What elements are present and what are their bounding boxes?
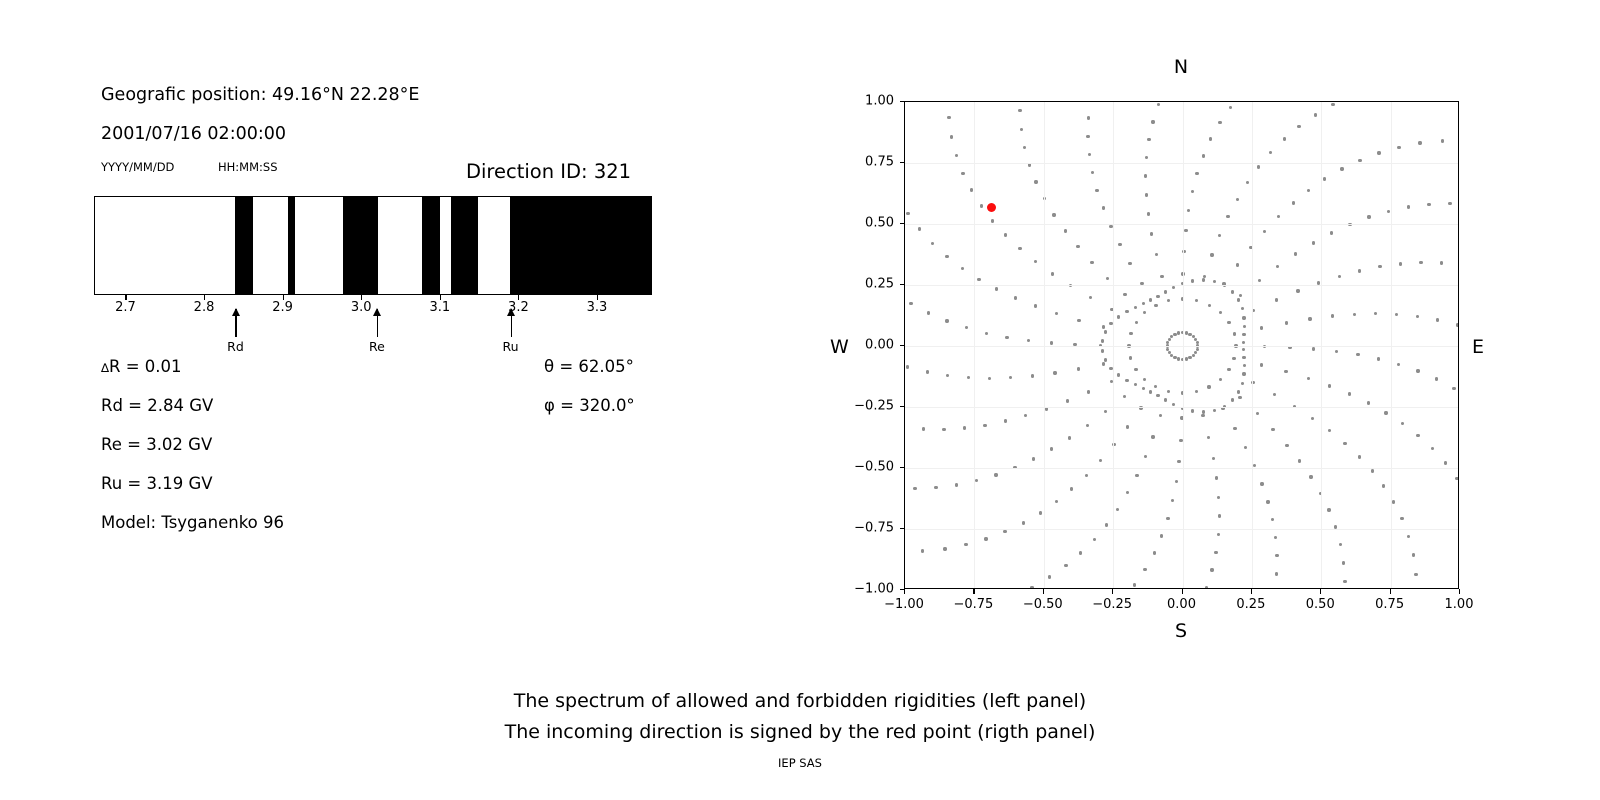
direction-map-panel: N S W E −1.00−0.75−0.50−0.250.000.250.50…: [820, 40, 1520, 660]
direction-point: [1431, 447, 1434, 450]
arrow-up-icon: [507, 308, 515, 316]
direction-point: [1275, 572, 1278, 575]
direction-point: [1285, 321, 1288, 324]
direction-point: [927, 311, 930, 314]
direction-point: [1294, 252, 1297, 255]
direction-point: [943, 547, 946, 550]
forbidden-band: [288, 197, 295, 294]
direction-point: [1214, 551, 1217, 554]
direction-point: [1166, 517, 1169, 520]
direction-point: [1155, 253, 1158, 256]
direction-point: [1314, 113, 1317, 116]
x-axis-tick-label: 1.00: [1445, 597, 1474, 612]
direction-point: [1416, 369, 1419, 372]
direction-point: [1343, 442, 1346, 445]
spectrum-tick-label: 3.3: [587, 300, 608, 315]
direction-point: [1099, 459, 1102, 462]
x-axis-tick-label: −1.00: [884, 597, 924, 612]
direction-point: [1342, 561, 1345, 564]
direction-point: [1150, 232, 1153, 235]
y-axis-tick-label: 0.50: [842, 216, 894, 231]
direction-point: [1307, 377, 1310, 380]
direction-point: [946, 374, 949, 377]
direction-point: [1089, 296, 1092, 299]
direction-point: [1160, 534, 1163, 537]
direction-point: [1236, 198, 1239, 201]
direction-point: [1151, 435, 1154, 438]
direction-point: [961, 267, 964, 270]
direction-point: [1202, 278, 1205, 281]
direction-point: [1123, 293, 1126, 296]
direction-point: [1435, 377, 1438, 380]
spectrum-bar: [94, 196, 652, 295]
direction-point: [1236, 263, 1239, 266]
direction-point: [1143, 378, 1146, 381]
direction-point: [921, 549, 924, 552]
direction-point: [909, 302, 912, 305]
direction-point: [1064, 564, 1067, 567]
param-model: Model: Tsyganenko 96: [101, 513, 284, 532]
direction-point: [1367, 215, 1370, 218]
direction-point: [1448, 202, 1451, 205]
direction-point: [1101, 339, 1104, 342]
direction-point: [1276, 265, 1279, 268]
x-axis-tick: [973, 589, 974, 594]
time-format-hint: HH:MM:SS: [218, 160, 278, 174]
direction-point: [1330, 231, 1333, 234]
direction-point: [1335, 350, 1338, 353]
direction-point: [1229, 106, 1232, 109]
polar-scatter-plot: [904, 101, 1459, 589]
direction-point: [1048, 575, 1051, 578]
direction-point: [1210, 253, 1213, 256]
direction-point: [1167, 299, 1170, 302]
y-axis-tick: [900, 467, 905, 468]
direction-point: [1133, 583, 1136, 586]
direction-point: [1241, 382, 1244, 385]
direction-point: [1283, 137, 1286, 140]
direction-point: [1323, 177, 1326, 180]
caption-line-2: The incoming direction is signed by the …: [0, 717, 1600, 748]
direction-point: [1327, 508, 1330, 511]
direction-point: [965, 326, 968, 329]
direction-point: [922, 427, 925, 430]
direction-point: [955, 483, 958, 486]
direction-point: [906, 212, 909, 215]
direction-point: [1159, 414, 1162, 417]
direction-point: [1258, 279, 1261, 282]
direction-point: [1003, 530, 1006, 533]
direction-point: [1149, 298, 1152, 301]
direction-point: [906, 365, 909, 368]
direction-point: [1377, 151, 1380, 154]
x-axis-tick: [904, 589, 905, 594]
direction-point: [1378, 265, 1381, 268]
direction-point: [1117, 315, 1120, 318]
direction-point: [1167, 390, 1170, 393]
gridline-vertical: [1391, 102, 1392, 588]
direction-point: [1260, 482, 1263, 485]
direction-point: [984, 537, 987, 540]
direction-point: [945, 255, 948, 258]
y-axis-tick-label: 0.25: [842, 277, 894, 292]
direction-point: [1192, 354, 1195, 357]
direction-point: [1109, 225, 1112, 228]
direction-point: [991, 219, 994, 222]
direction-point: [1382, 484, 1385, 487]
direction-point: [1207, 385, 1210, 388]
param-theta: θ = 62.05°: [544, 357, 634, 376]
direction-point: [1195, 299, 1198, 302]
direction-point: [1399, 262, 1402, 265]
direction-point: [1066, 399, 1069, 402]
direction-point: [1173, 356, 1176, 359]
direction-point: [1456, 323, 1459, 326]
direction-point: [1237, 298, 1240, 301]
direction-point: [931, 242, 934, 245]
direction-point: [1077, 367, 1080, 370]
direction-point: [1164, 290, 1167, 293]
direction-point: [1218, 121, 1221, 124]
direction-point: [1195, 172, 1198, 175]
direction-point: [1231, 398, 1234, 401]
direction-point: [1145, 156, 1148, 159]
direction-point: [1052, 213, 1055, 216]
direction-point: [1441, 139, 1444, 142]
gridline-vertical: [1113, 102, 1114, 588]
direction-point: [1242, 341, 1245, 344]
direction-point: [1397, 146, 1400, 149]
y-axis-tick-label: −1.00: [842, 582, 894, 597]
direction-point: [1020, 128, 1023, 131]
direction-point: [1284, 370, 1287, 373]
direction-point: [1292, 201, 1295, 204]
direction-point: [1312, 241, 1315, 244]
direction-point: [1027, 339, 1030, 342]
direction-point: [1226, 215, 1229, 218]
arrow-up-icon: [232, 308, 240, 316]
direction-point: [1244, 446, 1247, 449]
direction-point: [1034, 304, 1037, 307]
x-axis-tick-label: −0.25: [1092, 597, 1132, 612]
direction-point: [1156, 394, 1159, 397]
direction-point: [1307, 189, 1310, 192]
direction-point: [1427, 203, 1430, 206]
direction-point: [983, 424, 986, 427]
direction-point: [1339, 543, 1342, 546]
compass-label-south: S: [1175, 620, 1187, 642]
direction-point: [1414, 573, 1417, 576]
direction-point: [1416, 315, 1419, 318]
direction-point: [945, 319, 948, 322]
x-axis-tick-label: 0.75: [1375, 597, 1404, 612]
arrow-up-icon: [373, 308, 381, 316]
direction-point: [1275, 298, 1278, 301]
direction-point: [1117, 373, 1120, 376]
spectrum-tick: [440, 295, 441, 300]
direction-point: [1004, 233, 1007, 236]
direction-point: [1134, 383, 1137, 386]
direction-point: [967, 376, 970, 379]
direction-point: [942, 428, 945, 431]
direction-point: [1156, 295, 1159, 298]
direction-point: [1024, 414, 1027, 417]
y-axis-tick-label: −0.50: [842, 460, 894, 475]
x-axis-tick: [1043, 589, 1044, 594]
direction-point: [1328, 384, 1331, 387]
param-delta-r-value: R = 0.01: [109, 357, 182, 376]
direction-point: [1087, 116, 1090, 119]
direction-point: [1143, 568, 1146, 571]
direction-point: [1212, 457, 1215, 460]
direction-point: [1142, 387, 1145, 390]
direction-point: [1241, 307, 1244, 310]
gridline-vertical: [1183, 102, 1184, 588]
date-format-hint: YYYY/MM/DD: [101, 160, 174, 174]
direction-point: [1160, 275, 1163, 278]
x-axis-tick: [1112, 589, 1113, 594]
direction-point: [1217, 533, 1220, 536]
direction-point: [1126, 425, 1129, 428]
direction-point: [1311, 417, 1314, 420]
rigidity-marker-label: Rd: [227, 339, 244, 354]
x-axis-tick: [1251, 589, 1252, 594]
y-axis-tick: [900, 406, 905, 407]
direction-point: [1191, 409, 1194, 412]
direction-point: [1260, 363, 1263, 366]
y-axis-tick: [900, 223, 905, 224]
direction-point: [1154, 385, 1157, 388]
y-axis-tick: [900, 345, 905, 346]
gridline-horizontal: [905, 407, 1458, 408]
direction-point: [1005, 336, 1008, 339]
gridline-vertical: [1321, 102, 1322, 588]
direction-point: [1030, 586, 1033, 589]
direction-point: [950, 135, 953, 138]
gridline-horizontal: [905, 529, 1458, 530]
direction-point: [1298, 459, 1301, 462]
direction-point: [1129, 356, 1132, 359]
direction-point: [1086, 135, 1089, 138]
y-axis-tick-label: 1.00: [842, 94, 894, 109]
direction-point: [1144, 174, 1147, 177]
direction-point: [1377, 357, 1380, 360]
direction-point: [1118, 243, 1121, 246]
direction-point: [1242, 356, 1245, 359]
direction-point: [1232, 357, 1235, 360]
direction-point: [1187, 209, 1190, 212]
direction-point: [1125, 379, 1128, 382]
direction-point: [1210, 568, 1213, 571]
direction-point: [1238, 396, 1241, 399]
direction-point: [1269, 151, 1272, 154]
direction-point: [934, 486, 937, 489]
direction-point: [1191, 279, 1194, 282]
direction-point: [1202, 154, 1205, 157]
x-axis-tick-label: −0.50: [1023, 597, 1063, 612]
direction-point: [1340, 167, 1343, 170]
direction-point: [1145, 193, 1148, 196]
gridline-horizontal: [905, 285, 1458, 286]
direction-point: [947, 116, 950, 119]
direction-point: [913, 487, 916, 490]
direction-point: [1079, 551, 1082, 554]
forbidden-band: [422, 197, 440, 294]
direction-point: [1242, 348, 1245, 351]
spectrum-tick: [518, 295, 519, 300]
direction-point: [1154, 304, 1157, 307]
param-rd: Rd = 2.84 GV: [101, 396, 213, 415]
footer-credit: IEP SAS: [0, 756, 1600, 770]
spectrum-tick: [597, 295, 598, 300]
direction-point: [1157, 103, 1160, 106]
direction-point: [1275, 554, 1278, 557]
direction-point: [1273, 393, 1276, 396]
spectrum-tick-label: 3.1: [429, 300, 450, 315]
direction-point: [1022, 521, 1025, 524]
rigidity-spectrum-panel: Geografic position: 49.16°N 22.28°E 2001…: [0, 0, 760, 660]
direction-point: [1237, 390, 1240, 393]
direction-point: [1142, 302, 1145, 305]
direction-point: [1077, 319, 1080, 322]
direction-point: [1231, 290, 1234, 293]
gridline-horizontal: [905, 163, 1458, 164]
direction-point: [1353, 313, 1356, 316]
direction-point: [1397, 363, 1400, 366]
direction-point: [1129, 332, 1132, 335]
direction-point: [1168, 338, 1171, 341]
rigidity-marker-label: Re: [369, 339, 385, 354]
direction-point: [1104, 410, 1107, 413]
direction-point: [1135, 474, 1138, 477]
direction-point: [1400, 517, 1403, 520]
direction-point: [1128, 262, 1131, 265]
direction-point: [1185, 357, 1188, 360]
spectrum-tick: [125, 295, 126, 300]
gridline-horizontal: [905, 468, 1458, 469]
spectrum-tick-label: 2.9: [272, 300, 293, 315]
direction-point: [1034, 260, 1037, 263]
direction-point: [1104, 358, 1107, 361]
direction-point: [1184, 229, 1187, 232]
direction-point: [1328, 429, 1331, 432]
direction-point: [1166, 341, 1169, 344]
direction-point: [1384, 411, 1387, 414]
direction-point: [1068, 436, 1071, 439]
direction-point: [1296, 289, 1299, 292]
direction-point: [1401, 422, 1404, 425]
direction-point: [1208, 304, 1211, 307]
direction-point: [1116, 508, 1119, 511]
param-delta-r: ∆R = 0.01: [101, 357, 182, 376]
direction-point: [1050, 341, 1053, 344]
compass-label-north: N: [1174, 56, 1188, 78]
direction-point: [1102, 325, 1105, 328]
direction-point: [1102, 206, 1105, 209]
direction-point: [1134, 306, 1137, 309]
direction-point: [1164, 398, 1167, 401]
direction-point: [1419, 261, 1422, 264]
direction-point: [1171, 499, 1174, 502]
direction-point: [1412, 553, 1415, 556]
direction-point: [1207, 436, 1210, 439]
direction-point: [1147, 212, 1150, 215]
direction-point: [1126, 491, 1129, 494]
direction-point: [1260, 326, 1263, 329]
direction-point: [1031, 374, 1034, 377]
direction-point: [955, 154, 958, 157]
direction-point: [1243, 364, 1246, 367]
direction-point: [1151, 120, 1154, 123]
forbidden-band: [235, 197, 253, 294]
direction-point: [1455, 477, 1458, 480]
direction-point: [1215, 476, 1218, 479]
direction-point: [1172, 286, 1175, 289]
incoming-direction-marker: [987, 203, 996, 212]
direction-point: [1153, 551, 1156, 554]
direction-point: [1051, 272, 1054, 275]
spectrum-tick: [204, 295, 205, 300]
direction-point: [1331, 103, 1334, 106]
direction-point: [1125, 310, 1128, 313]
param-re: Re = 3.02 GV: [101, 435, 212, 454]
direction-point: [1444, 461, 1447, 464]
direction-point: [1271, 518, 1274, 521]
y-axis-tick: [900, 162, 905, 163]
direction-point: [1308, 317, 1311, 320]
x-axis-tick: [1320, 589, 1321, 594]
direction-point: [1358, 159, 1361, 162]
direction-point: [1348, 392, 1351, 395]
direction-point: [1356, 353, 1359, 356]
figure-caption: The spectrum of allowed and forbidden ri…: [0, 686, 1600, 748]
direction-point: [926, 370, 929, 373]
param-ru: Ru = 3.19 GV: [101, 474, 213, 493]
direction-point: [1201, 414, 1204, 417]
x-axis-tick: [1459, 589, 1460, 594]
direction-point: [1018, 109, 1021, 112]
direction-point: [1239, 294, 1242, 297]
direction-point: [1076, 245, 1079, 248]
direction-point: [1101, 349, 1104, 352]
direction-point: [1358, 269, 1361, 272]
forbidden-band: [343, 197, 378, 294]
direction-point: [1172, 403, 1175, 406]
direction-point: [961, 172, 964, 175]
spectrum-tick: [283, 295, 284, 300]
direction-point: [1246, 181, 1249, 184]
direction-point: [1436, 318, 1439, 321]
direction-point: [1147, 138, 1150, 141]
direction-point: [1095, 189, 1098, 192]
direction-point: [1070, 487, 1073, 490]
x-axis-tick-label: 0.00: [1167, 597, 1196, 612]
direction-point: [1218, 514, 1221, 517]
direction-point: [1090, 261, 1093, 264]
rigidity-spectrum-chart: [94, 196, 652, 295]
direction-point: [1416, 434, 1419, 437]
direction-point: [1205, 586, 1208, 589]
direction-point: [1219, 378, 1222, 381]
direction-point: [1106, 277, 1109, 280]
direction-point: [1104, 330, 1107, 333]
gridline-vertical: [974, 102, 975, 588]
gridline-horizontal: [905, 224, 1458, 225]
direction-point: [994, 473, 997, 476]
spectrum-tick-label: 3.0: [351, 300, 372, 315]
direction-point: [1242, 316, 1245, 319]
direction-point: [1371, 469, 1374, 472]
